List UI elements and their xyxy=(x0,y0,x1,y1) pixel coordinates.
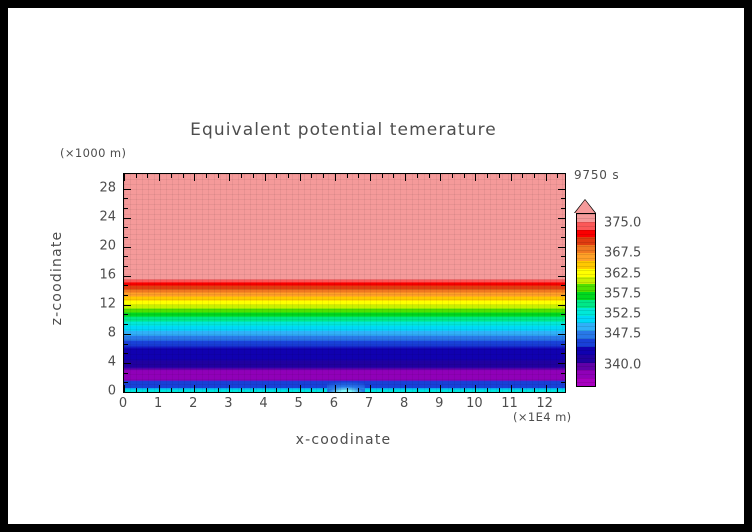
y-major-tick-right xyxy=(558,305,565,306)
colorbar-tick-label: 375.0 xyxy=(604,216,641,231)
colorbar-tick-label: 352.5 xyxy=(604,307,641,322)
x-major-tick-top xyxy=(475,174,476,181)
x-major-tick xyxy=(300,385,301,392)
y-axis-unit-label: (×1000 m) xyxy=(60,146,126,160)
x-minor-tick xyxy=(253,388,254,392)
y-major-tick-right xyxy=(558,363,565,364)
colorbar-tick-label: 340.0 xyxy=(604,357,641,372)
y-minor-tick xyxy=(124,285,128,286)
x-minor-tick-top xyxy=(323,174,324,178)
x-minor-tick-top xyxy=(487,174,488,178)
x-minor-tick-top xyxy=(382,174,383,178)
x-major-tick xyxy=(440,385,441,392)
x-tick-label: 3 xyxy=(224,396,232,411)
x-minor-tick-top xyxy=(136,174,137,178)
colorbar-tick-label: 347.5 xyxy=(604,327,641,342)
x-axis-unit-label: (×1E4 m) xyxy=(513,410,572,424)
y-minor-tick xyxy=(124,353,128,354)
y-minor-tick xyxy=(124,295,128,296)
y-minor-tick xyxy=(124,208,128,209)
x-minor-tick xyxy=(464,388,465,392)
y-minor-tick-right xyxy=(561,237,565,238)
x-major-tick-top xyxy=(194,174,195,181)
x-minor-tick xyxy=(452,388,453,392)
x-minor-tick-top xyxy=(534,174,535,178)
y-major-tick-right xyxy=(558,276,565,277)
x-minor-tick-top xyxy=(241,174,242,178)
figure-outer-frame: Equivalent potential temerature (×1000 m… xyxy=(0,0,752,532)
y-minor-tick-right xyxy=(561,198,565,199)
x-major-tick-top xyxy=(229,174,230,181)
contour-band xyxy=(124,367,565,380)
x-major-tick-top xyxy=(440,174,441,181)
contour-band xyxy=(124,181,565,278)
x-minor-tick-top xyxy=(147,174,148,178)
y-tick-label: 24 xyxy=(86,209,116,224)
y-major-tick xyxy=(124,189,131,190)
y-minor-tick-right xyxy=(561,324,565,325)
colorbar-tick-label: 362.5 xyxy=(604,266,641,281)
y-tick-label: 12 xyxy=(86,296,116,311)
x-minor-tick-top xyxy=(522,174,523,178)
y-minor-tick-right xyxy=(561,266,565,267)
y-minor-tick-right xyxy=(561,285,565,286)
y-major-tick xyxy=(124,334,131,335)
x-major-tick-top xyxy=(265,174,266,181)
x-major-tick-top xyxy=(300,174,301,181)
x-major-tick xyxy=(229,385,230,392)
y-minor-tick-right xyxy=(561,382,565,383)
y-major-tick-right xyxy=(558,392,565,393)
x-minor-tick xyxy=(206,388,207,392)
y-tick-label: 0 xyxy=(86,384,116,399)
x-minor-tick xyxy=(183,388,184,392)
y-major-tick xyxy=(124,218,131,219)
x-minor-tick xyxy=(276,388,277,392)
x-minor-tick-top xyxy=(429,174,430,178)
x-major-tick-top xyxy=(124,174,125,181)
x-tick-label: 6 xyxy=(330,396,338,411)
y-major-tick-right xyxy=(558,189,565,190)
x-minor-tick-top xyxy=(464,174,465,178)
x-minor-tick-top xyxy=(358,174,359,178)
x-major-tick-top xyxy=(335,174,336,181)
contour-field xyxy=(124,174,565,392)
x-minor-tick xyxy=(323,388,324,392)
x-minor-tick xyxy=(358,388,359,392)
x-axis-title: x-coodinate xyxy=(123,432,564,448)
x-minor-tick-top xyxy=(206,174,207,178)
y-minor-tick-right xyxy=(561,256,565,257)
x-major-tick xyxy=(159,385,160,392)
x-minor-tick xyxy=(522,388,523,392)
y-minor-tick xyxy=(124,382,128,383)
y-tick-label: 28 xyxy=(86,180,116,195)
x-tick-label: 0 xyxy=(119,396,127,411)
x-minor-tick-top xyxy=(183,174,184,178)
y-minor-tick-right xyxy=(561,373,565,374)
x-minor-tick-top xyxy=(452,174,453,178)
x-major-tick-top xyxy=(370,174,371,181)
y-major-tick xyxy=(124,363,131,364)
y-tick-label: 8 xyxy=(86,325,116,340)
y-minor-tick xyxy=(124,344,128,345)
x-major-tick xyxy=(124,385,125,392)
x-minor-tick-top xyxy=(347,174,348,178)
x-minor-tick xyxy=(382,388,383,392)
x-major-tick xyxy=(511,385,512,392)
x-minor-tick xyxy=(136,388,137,392)
x-major-tick-top xyxy=(159,174,160,181)
x-major-tick-top xyxy=(405,174,406,181)
y-major-tick xyxy=(124,276,131,277)
x-tick-label: 10 xyxy=(466,396,483,411)
x-tick-label: 1 xyxy=(154,396,162,411)
x-major-tick-top xyxy=(546,174,547,181)
x-minor-tick xyxy=(487,388,488,392)
x-tick-label: 11 xyxy=(501,396,518,411)
x-minor-tick xyxy=(393,388,394,392)
y-minor-tick xyxy=(124,373,128,374)
contour-band xyxy=(124,345,565,358)
x-tick-label: 9 xyxy=(435,396,443,411)
x-minor-tick xyxy=(417,388,418,392)
y-tick-label: 4 xyxy=(86,354,116,369)
x-tick-label: 5 xyxy=(295,396,303,411)
x-major-tick xyxy=(405,385,406,392)
y-minor-tick xyxy=(124,227,128,228)
x-minor-tick xyxy=(534,388,535,392)
y-major-tick xyxy=(124,392,131,393)
y-major-tick-right xyxy=(558,247,565,248)
y-minor-tick xyxy=(124,266,128,267)
y-major-tick-right xyxy=(558,218,565,219)
time-annotation: 9750 s xyxy=(574,168,619,182)
y-minor-tick-right xyxy=(561,208,565,209)
x-minor-tick xyxy=(499,388,500,392)
x-minor-tick-top xyxy=(218,174,219,178)
colorbar-band xyxy=(577,378,595,386)
y-tick-label: 20 xyxy=(86,238,116,253)
x-minor-tick xyxy=(311,388,312,392)
y-minor-tick xyxy=(124,237,128,238)
x-major-tick xyxy=(370,385,371,392)
x-minor-tick-top xyxy=(171,174,172,178)
y-major-tick xyxy=(124,247,131,248)
y-minor-tick xyxy=(124,256,128,257)
x-minor-tick xyxy=(171,388,172,392)
y-tick-label: 16 xyxy=(86,267,116,282)
figure-canvas: Equivalent potential temerature (×1000 m… xyxy=(8,8,744,524)
contour-band xyxy=(124,359,565,368)
y-major-tick xyxy=(124,305,131,306)
y-minor-tick xyxy=(124,314,128,315)
x-minor-tick xyxy=(147,388,148,392)
x-minor-tick-top xyxy=(557,174,558,178)
y-major-tick-right xyxy=(558,334,565,335)
x-major-tick-top xyxy=(511,174,512,181)
x-major-tick xyxy=(265,385,266,392)
y-minor-tick xyxy=(124,198,128,199)
colorbar-tick-label: 357.5 xyxy=(604,286,641,301)
y-minor-tick-right xyxy=(561,295,565,296)
x-minor-tick xyxy=(241,388,242,392)
x-minor-tick xyxy=(218,388,219,392)
x-minor-tick-top xyxy=(393,174,394,178)
x-minor-tick xyxy=(429,388,430,392)
colorbar-top-arrow-icon xyxy=(575,200,595,213)
x-tick-label: 2 xyxy=(189,396,197,411)
x-minor-tick-top xyxy=(253,174,254,178)
x-minor-tick xyxy=(288,388,289,392)
page-title: Equivalent potential temerature xyxy=(123,120,564,140)
y-axis-title: z-coodinate xyxy=(49,198,65,358)
x-minor-tick-top xyxy=(288,174,289,178)
x-tick-label: 4 xyxy=(259,396,267,411)
y-minor-tick xyxy=(124,324,128,325)
x-minor-tick-top xyxy=(276,174,277,178)
x-minor-tick xyxy=(347,388,348,392)
x-major-tick xyxy=(546,385,547,392)
y-minor-tick-right xyxy=(561,353,565,354)
x-minor-tick-top xyxy=(311,174,312,178)
x-minor-tick-top xyxy=(499,174,500,178)
plot-area[interactable] xyxy=(123,173,566,393)
y-minor-tick-right xyxy=(561,344,565,345)
x-tick-label: 12 xyxy=(536,396,553,411)
colorbar-tick-label: 367.5 xyxy=(604,246,641,261)
x-major-tick xyxy=(335,385,336,392)
x-tick-label: 8 xyxy=(400,396,408,411)
y-minor-tick-right xyxy=(561,227,565,228)
y-minor-tick-right xyxy=(561,314,565,315)
x-major-tick xyxy=(475,385,476,392)
x-tick-label: 7 xyxy=(365,396,373,411)
colorbar[interactable] xyxy=(576,213,596,387)
x-major-tick xyxy=(194,385,195,392)
x-minor-tick-top xyxy=(417,174,418,178)
